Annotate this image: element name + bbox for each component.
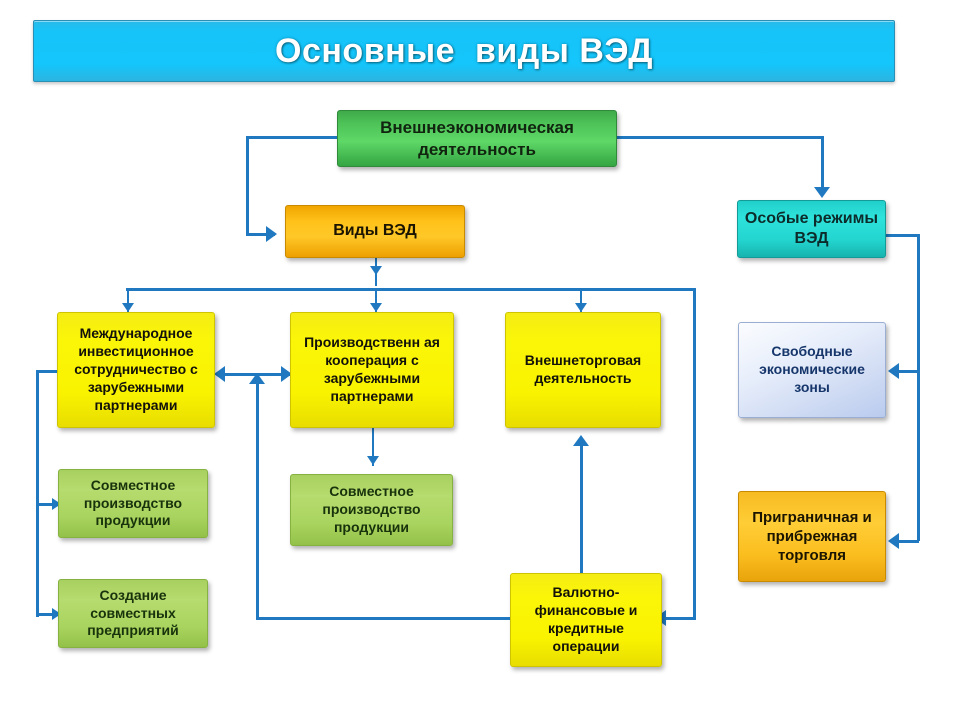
node-joint-ventures-label: Создание совместных предприятий (65, 587, 201, 641)
arrowhead-into-special-regimes (814, 187, 830, 198)
connector-left-bus (36, 370, 39, 617)
arrowhead-into-types (266, 226, 277, 242)
node-joint-production-left-label: Совместное производство продукции (65, 477, 201, 531)
arrowhead-link-left (214, 366, 225, 382)
connector-root-left-drop (246, 136, 249, 235)
arrowhead-into-sez (888, 363, 899, 379)
connector-root-to-right (616, 136, 824, 139)
connector-into-sez (896, 370, 919, 373)
arrowhead-into-investment (122, 303, 134, 312)
node-joint-ventures[interactable]: Создание совместных предприятий (58, 579, 208, 648)
arrowhead-into-foreign-trade (575, 303, 587, 312)
connector-into-currency-ops (663, 617, 696, 620)
arrowhead-into-joint-prod-mid (367, 456, 379, 465)
node-types-label: Виды ВЭД (292, 221, 458, 241)
node-types[interactable]: Виды ВЭД (285, 205, 465, 258)
node-investment-label: Международное инвестиционное сотрудничес… (64, 325, 208, 415)
connector-bottom-feedback (256, 617, 516, 620)
connector-currency-to-foreign-trade (580, 444, 583, 574)
node-foreign-trade[interactable]: Внешнеторговая деятельность (505, 312, 661, 428)
node-border-trade[interactable]: Приграничная и прибрежная торговля (738, 491, 886, 582)
node-production[interactable]: Производственн ая кооперация с зарубежны… (290, 312, 454, 428)
node-foreign-trade-label: Внешнеторговая деятельность (512, 352, 654, 388)
arrowhead-types-drop (370, 266, 382, 275)
node-currency-operations[interactable]: Валютно-финансовые и кредитные операции (510, 573, 662, 667)
node-sez[interactable]: Свободные экономические зоны (738, 322, 886, 418)
node-border-trade-label: Приграничная и прибрежная торговля (745, 508, 879, 566)
arrowhead-into-border-trade (888, 533, 899, 549)
node-joint-production-mid[interactable]: Совместное производство продукции (290, 474, 453, 546)
arrowhead-into-production (370, 303, 382, 312)
slide-title-banner: Основные виды ВЭД (33, 20, 895, 82)
connector-bus-horizontal (126, 288, 696, 291)
connector-root-right-drop (821, 136, 824, 192)
page-title: Основные виды ВЭД (275, 32, 653, 71)
arrowhead-feedback-riser (249, 373, 265, 384)
node-root[interactable]: Внешнеэкономическая деятельность (337, 110, 617, 167)
node-production-label: Производственн ая кооперация с зарубежны… (297, 334, 447, 406)
connector-right-bus (917, 234, 920, 541)
connector-feedback-riser (256, 382, 259, 619)
connector-root-to-left (246, 136, 346, 139)
node-joint-production-left[interactable]: Совместное производство продукции (58, 469, 208, 538)
node-currency-operations-label: Валютно-финансовые и кредитные операции (517, 584, 655, 656)
connector-special-regimes-out (886, 234, 920, 237)
node-root-label: Внешнеэкономическая деятельность (344, 117, 610, 161)
arrowhead-into-foreign-trade-bottom (573, 435, 589, 446)
connector-bus-right-leg (693, 288, 696, 619)
connector-into-border-trade (896, 540, 919, 543)
node-special-regimes[interactable]: Особые режимы ВЭД (737, 200, 886, 258)
node-investment[interactable]: Международное инвестиционное сотрудничес… (57, 312, 215, 428)
node-joint-production-mid-label: Совместное производство продукции (297, 483, 446, 537)
node-special-regimes-label: Особые режимы ВЭД (744, 209, 879, 250)
slide-canvas: Основные виды ВЭД (0, 0, 961, 720)
node-sez-label: Свободные экономические зоны (745, 343, 879, 397)
